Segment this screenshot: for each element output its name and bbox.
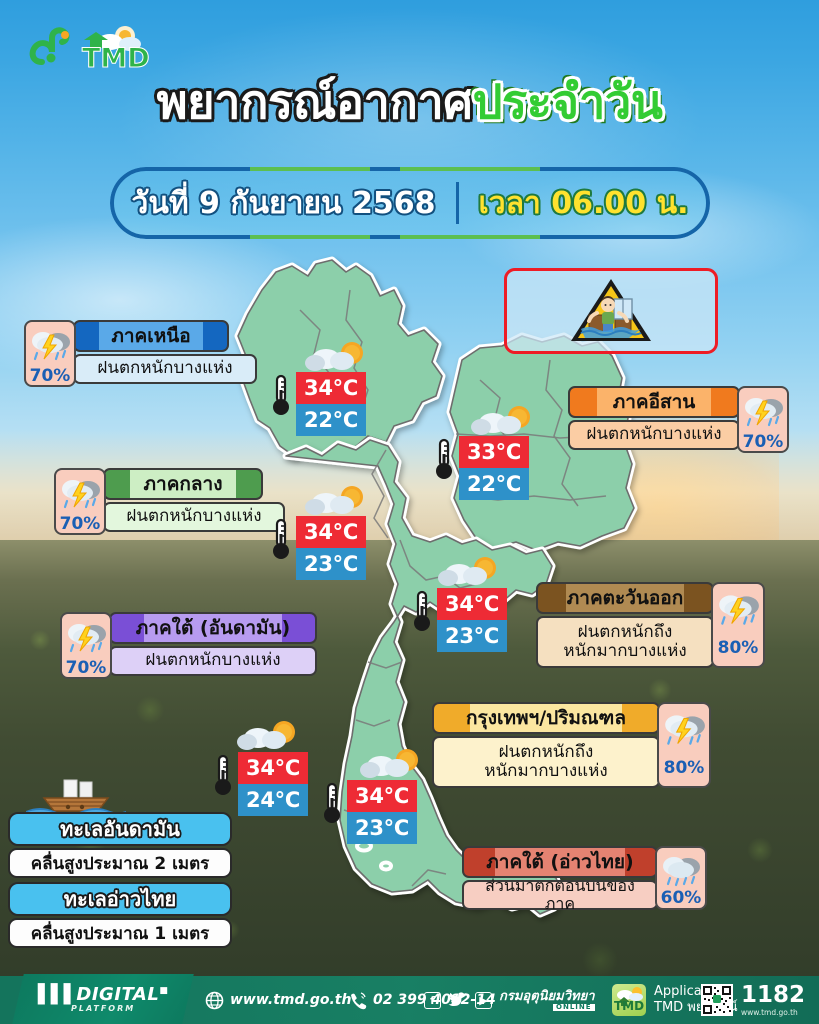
region-name: ภาคใต้ (อ่าวไทย)	[486, 847, 633, 877]
rain-percent-south-andaman: 70%	[60, 612, 112, 679]
rain-percent-north: 70%	[24, 320, 76, 387]
sea-name-gulf: ทะเลอ่าวไทย	[8, 882, 232, 916]
temp-low: 22°C	[296, 404, 366, 436]
thunderstorm-rain-icon	[715, 588, 761, 632]
thermometer-icon	[212, 754, 234, 798]
region-card-central[interactable]: 70% ภาคกลาง ฝนตกหนักบางแห่ง	[54, 468, 285, 535]
percent-value: 70%	[743, 434, 784, 451]
tmd-app-text: TMD	[614, 999, 644, 1013]
weather-forecast-poster: TMD พยากรณ์อากาศประจำวัน วันที่ 9 กันยาย…	[0, 0, 819, 1024]
percent-value: 70%	[60, 516, 101, 533]
region-name: ภาคกลาง	[144, 469, 223, 499]
rain-percent-south-gulf: 60%	[655, 846, 707, 910]
flood-warning-icon	[567, 275, 655, 347]
temp-badge-south-gulf: 34°C 23°C	[347, 780, 417, 844]
thunderstorm-rain-icon	[58, 474, 102, 514]
svg-text:TMD: TMD	[82, 43, 150, 74]
partly-cloudy-icon	[465, 403, 535, 439]
hotline-number: 1182	[741, 984, 805, 1007]
qr-code-icon	[701, 984, 733, 1016]
facebook-icon[interactable]: f	[424, 992, 441, 1009]
thermometer-icon	[411, 590, 433, 634]
percent-value: 60%	[661, 890, 702, 907]
temp-high: 34°C	[347, 780, 417, 812]
phone-icon	[348, 991, 367, 1010]
tmd-app-logo-icon: TMD	[612, 984, 646, 1016]
region-header-north: ภาคเหนือ	[73, 320, 229, 352]
temp-low: 24°C	[238, 784, 308, 816]
youtube-icon[interactable]: ▶	[475, 992, 492, 1009]
temp-high: 34°C	[238, 752, 308, 784]
globe-icon	[205, 991, 224, 1010]
temp-high: 34°C	[437, 588, 507, 620]
partly-cloudy-icon	[302, 339, 372, 375]
region-header-northeast: ภาคอีสาน	[568, 386, 740, 418]
social-item[interactable]: f ▶ กรมอุตุนิยมวิทยา ONLINE	[424, 990, 595, 1011]
twitter-icon[interactable]	[448, 992, 468, 1009]
temp-badge-east: 34°C 23°C	[437, 588, 507, 652]
region-name: กรุงเทพฯ/ปริมณฑล	[466, 703, 626, 733]
footer-bar: ▌▌▌DIGITAL■ PLATFORM www.tmd.go.th 02 39…	[0, 976, 819, 1024]
region-card-south-gulf[interactable]: 60% ภาคใต้ (อ่าวไทย) ส่วนมาตกตอนบนของภาค	[462, 846, 707, 910]
partly-cloudy-icon	[302, 483, 372, 519]
region-header-south-andaman: ภาคใต้ (อันดามัน)	[109, 612, 317, 644]
region-header-bangkok: กรุงเทพฯ/ปริมณฑล	[432, 702, 660, 734]
thunderstorm-rain-icon	[741, 392, 785, 432]
region-card-east[interactable]: 80% ภาคตะวันออก ฝนตกหนักถึง หนักมากบางแห…	[536, 582, 765, 668]
banner-divider	[456, 182, 459, 224]
website-url: www.tmd.go.th	[230, 992, 351, 1008]
flood-warning-box	[504, 268, 718, 354]
sea-name-andaman: ทะเลอันดามัน	[8, 812, 232, 846]
social-label: กรมอุตุนิยมวิทยา	[499, 990, 595, 1003]
region-desc-north: ฝนตกหนักบางแห่ง	[73, 354, 257, 384]
rain-percent-northeast: 70%	[737, 386, 789, 453]
rain-percent-east: 80%	[711, 582, 765, 668]
region-card-north[interactable]: 70% ภาคเหนือ ฝนตกหนักบางแห่ง	[24, 320, 257, 387]
temp-badge-central: 34°C 23°C	[296, 516, 366, 580]
region-card-bangkok[interactable]: 80% กรุงเทพฯ/ปริมณฑล ฝนตกหนักถึง หนักมาก…	[432, 702, 711, 788]
percent-value: 70%	[30, 368, 71, 385]
region-desc-northeast: ฝนตกหนักบางแห่ง	[568, 420, 740, 450]
rain-percent-bangkok: 80%	[657, 702, 711, 788]
region-header-south-gulf: ภาคใต้ (อ่าวไทย)	[462, 846, 658, 878]
partly-cloudy-icon	[234, 718, 304, 754]
region-desc-bangkok: ฝนตกหนักถึง หนักมากบางแห่ง	[432, 736, 660, 788]
temp-badge-south-andaman: 34°C 24°C	[238, 752, 308, 816]
region-desc-south-andaman: ฝนตกหนักบางแห่ง	[109, 646, 317, 676]
digital-label: DIGITAL	[76, 984, 159, 1005]
sea-desc-andaman: คลื่นสูงประมาณ 2 เมตร	[8, 848, 232, 878]
partly-cloudy-icon	[357, 746, 427, 782]
thermometer-icon	[321, 782, 343, 826]
region-header-east: ภาคตะวันออก	[536, 582, 714, 614]
tmd-logo-icon: TMD	[22, 22, 152, 74]
platform-label: PLATFORM	[38, 1005, 168, 1013]
sea-desc-gulf: คลื่นสูงประมาณ 1 เมตร	[8, 918, 232, 948]
digital-platform-logo: ▌▌▌DIGITAL■ PLATFORM	[12, 974, 194, 1024]
region-name: ภาคใต้ (อันดามัน)	[136, 613, 290, 643]
hotline-item[interactable]: 1182 www.tmd.go.th	[701, 984, 805, 1017]
website-item[interactable]: www.tmd.go.th	[205, 991, 351, 1010]
region-desc-south-gulf: ส่วนมาตกตอนบนของภาค	[462, 880, 658, 910]
social-sub: ONLINE	[553, 1004, 595, 1011]
thunderstorm-rain-icon	[661, 708, 707, 752]
temp-low: 22°C	[459, 468, 529, 500]
page-title: พยากรณ์อากาศประจำวัน	[0, 78, 819, 127]
region-card-northeast[interactable]: 70% ภาคอีสาน ฝนตกหนักบางแห่ง	[568, 386, 789, 453]
title-part-2: ประจำวัน	[473, 75, 663, 130]
forecast-time: เวลา 06.00 น.	[479, 180, 689, 227]
percent-value: 70%	[66, 660, 107, 677]
temp-badge-north: 34°C 22°C	[296, 372, 366, 436]
hotline-sub: www.tmd.go.th	[741, 1009, 805, 1017]
date-time-banner: วันที่ 9 กันยายน 2568 เวลา 06.00 น.	[110, 167, 710, 239]
thermometer-icon	[270, 374, 292, 418]
percent-value: 80%	[664, 760, 705, 777]
rain-cloud-icon	[659, 852, 703, 888]
region-name: ภาคเหนือ	[111, 321, 190, 351]
region-desc-east: ฝนตกหนักถึง หนักมากบางแห่ง	[536, 616, 714, 668]
temp-high: 33°C	[459, 436, 529, 468]
forecast-date: วันที่ 9 กันยายน 2568	[131, 180, 435, 227]
partly-cloudy-icon	[435, 554, 505, 590]
region-name: ภาคอีสาน	[613, 387, 696, 417]
sea-conditions: ทะเลอันดามัน คลื่นสูงประมาณ 2 เมตร ทะเลอ…	[8, 812, 232, 948]
temp-low: 23°C	[437, 620, 507, 652]
thermometer-icon	[270, 518, 292, 562]
thermometer-icon	[433, 438, 455, 482]
percent-value: 80%	[718, 640, 759, 657]
title-part-1: พยากรณ์อากาศ	[157, 75, 473, 130]
temp-high: 34°C	[296, 516, 366, 548]
rain-percent-central: 70%	[54, 468, 106, 535]
temp-low: 23°C	[347, 812, 417, 844]
thunderstorm-rain-icon	[28, 326, 72, 366]
thunderstorm-rain-icon	[64, 618, 108, 658]
region-header-central: ภาคกลาง	[103, 468, 263, 500]
region-card-south-andaman[interactable]: 70% ภาคใต้ (อันดามัน) ฝนตกหนักบางแห่ง	[60, 612, 317, 679]
temp-low: 23°C	[296, 548, 366, 580]
region-desc-central: ฝนตกหนักบางแห่ง	[103, 502, 285, 532]
temp-badge-northeast: 33°C 22°C	[459, 436, 529, 500]
region-name: ภาคตะวันออก	[567, 583, 683, 613]
temp-high: 34°C	[296, 372, 366, 404]
